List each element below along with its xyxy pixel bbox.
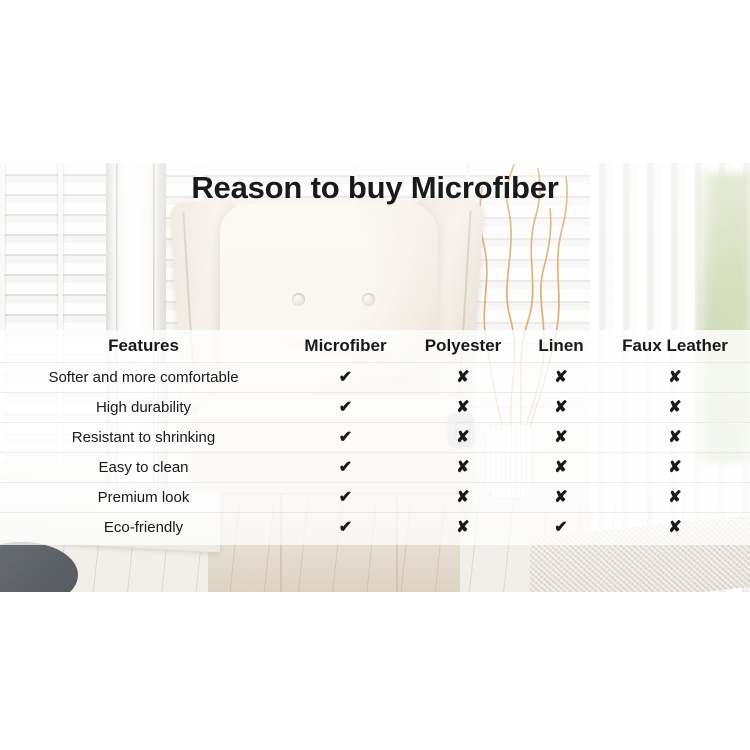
table-row: Resistant to shrinking ✔ ✘ ✘ ✘: [0, 422, 750, 452]
comparison-table: Features Microfiber Polyester Linen Faux…: [0, 330, 750, 542]
mark-polyester: ✘: [404, 482, 522, 512]
feature-label: Premium look: [0, 482, 287, 512]
mark-linen: ✔: [522, 512, 600, 542]
mark-linen: ✘: [522, 392, 600, 422]
mark-microfiber: ✔: [287, 422, 404, 452]
mark-faux-leather: ✘: [600, 512, 750, 542]
mark-microfiber: ✔: [287, 452, 404, 482]
mark-faux-leather: ✘: [600, 482, 750, 512]
column-header-linen: Linen: [522, 330, 600, 362]
column-header-faux-leather: Faux Leather: [600, 330, 750, 362]
column-header-polyester: Polyester: [404, 330, 522, 362]
mark-polyester: ✘: [404, 452, 522, 482]
table-row: High durability ✔ ✘ ✘ ✘: [0, 392, 750, 422]
table-header-row: Features Microfiber Polyester Linen Faux…: [0, 330, 750, 362]
table-header: Features Microfiber Polyester Linen Faux…: [0, 330, 750, 362]
mark-microfiber: ✔: [287, 512, 404, 542]
table-row: Softer and more comfortable ✔ ✘ ✘ ✘: [0, 362, 750, 392]
page-title: Reason to buy Microfiber: [0, 170, 750, 206]
mark-linen: ✘: [522, 362, 600, 392]
mark-faux-leather: ✘: [600, 362, 750, 392]
tufting-button: [362, 293, 375, 306]
feature-label: Resistant to shrinking: [0, 422, 287, 452]
mark-linen: ✘: [522, 422, 600, 452]
mark-polyester: ✘: [404, 362, 522, 392]
mark-faux-leather: ✘: [600, 452, 750, 482]
mark-linen: ✘: [522, 452, 600, 482]
mark-polyester: ✘: [404, 392, 522, 422]
feature-label: High durability: [0, 392, 287, 422]
table-body: Softer and more comfortable ✔ ✘ ✘ ✘ High…: [0, 362, 750, 542]
tufting-button: [292, 293, 305, 306]
infographic-root: Reason to buy Microfiber Features Microf…: [0, 0, 750, 750]
mark-microfiber: ✔: [287, 392, 404, 422]
mark-polyester: ✘: [404, 422, 522, 452]
feature-label: Softer and more comfortable: [0, 362, 287, 392]
comparison-table-overlay: Features Microfiber Polyester Linen Faux…: [0, 330, 750, 545]
column-header-microfiber: Microfiber: [287, 330, 404, 362]
feature-label: Easy to clean: [0, 452, 287, 482]
column-header-features: Features: [0, 330, 287, 362]
mark-faux-leather: ✘: [600, 392, 750, 422]
mark-faux-leather: ✘: [600, 422, 750, 452]
table-row: Easy to clean ✔ ✘ ✘ ✘: [0, 452, 750, 482]
feature-label: Eco-friendly: [0, 512, 287, 542]
mark-microfiber: ✔: [287, 362, 404, 392]
mark-polyester: ✘: [404, 512, 522, 542]
table-row: Eco-friendly ✔ ✘ ✔ ✘: [0, 512, 750, 542]
mark-microfiber: ✔: [287, 482, 404, 512]
mark-linen: ✘: [522, 482, 600, 512]
table-row: Premium look ✔ ✘ ✘ ✘: [0, 482, 750, 512]
